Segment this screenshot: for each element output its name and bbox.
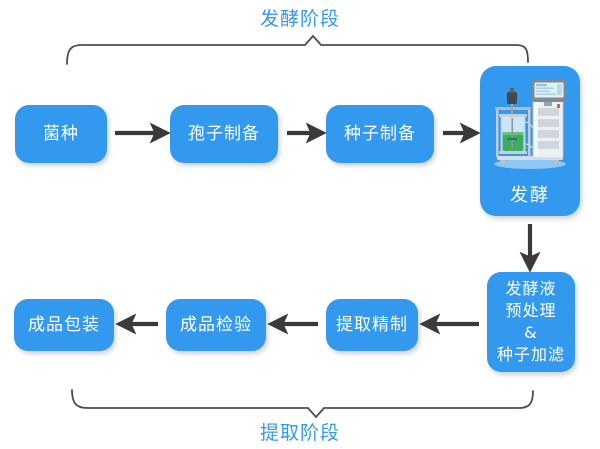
node-spore-preparation[interactable]: 孢子制备 — [170, 105, 278, 163]
node-strain-label: 菌种 — [43, 124, 79, 145]
node-strain[interactable]: 菌种 — [15, 105, 107, 163]
node-extraction-refining[interactable]: 提取精制 — [326, 299, 418, 351]
node-product-inspection[interactable]: 成品检验 — [166, 299, 266, 351]
stage-label-fermentation: 发酵阶段 — [0, 4, 600, 31]
bioreactor-icon — [487, 78, 573, 170]
node-product-packaging-label: 成品包装 — [28, 315, 100, 336]
node-seed-preparation-label: 种子制备 — [344, 124, 416, 145]
node-broth-pretreatment[interactable]: 发酵液 预处理 & 种子加滤 — [487, 272, 575, 372]
stage-label-extraction: 提取阶段 — [0, 418, 600, 445]
node-seed-preparation[interactable]: 种子制备 — [326, 105, 434, 163]
node-spore-preparation-label: 孢子制备 — [188, 124, 260, 145]
node-extraction-refining-label: 提取精制 — [336, 315, 408, 336]
node-broth-pretreatment-label: 发酵液 预处理 & 种子加滤 — [497, 278, 565, 366]
node-fermentation[interactable]: 发酵 — [480, 66, 580, 216]
flowchart-canvas: 发酵阶段 提取阶段 菌种 孢子制备 种子制备 — [0, 0, 600, 449]
brace-top — [67, 36, 528, 64]
node-fermentation-label: 发酵 — [510, 185, 550, 206]
node-product-packaging[interactable]: 成品包装 — [14, 299, 114, 351]
node-product-inspection-label: 成品检验 — [180, 315, 252, 336]
brace-bottom — [72, 390, 533, 417]
